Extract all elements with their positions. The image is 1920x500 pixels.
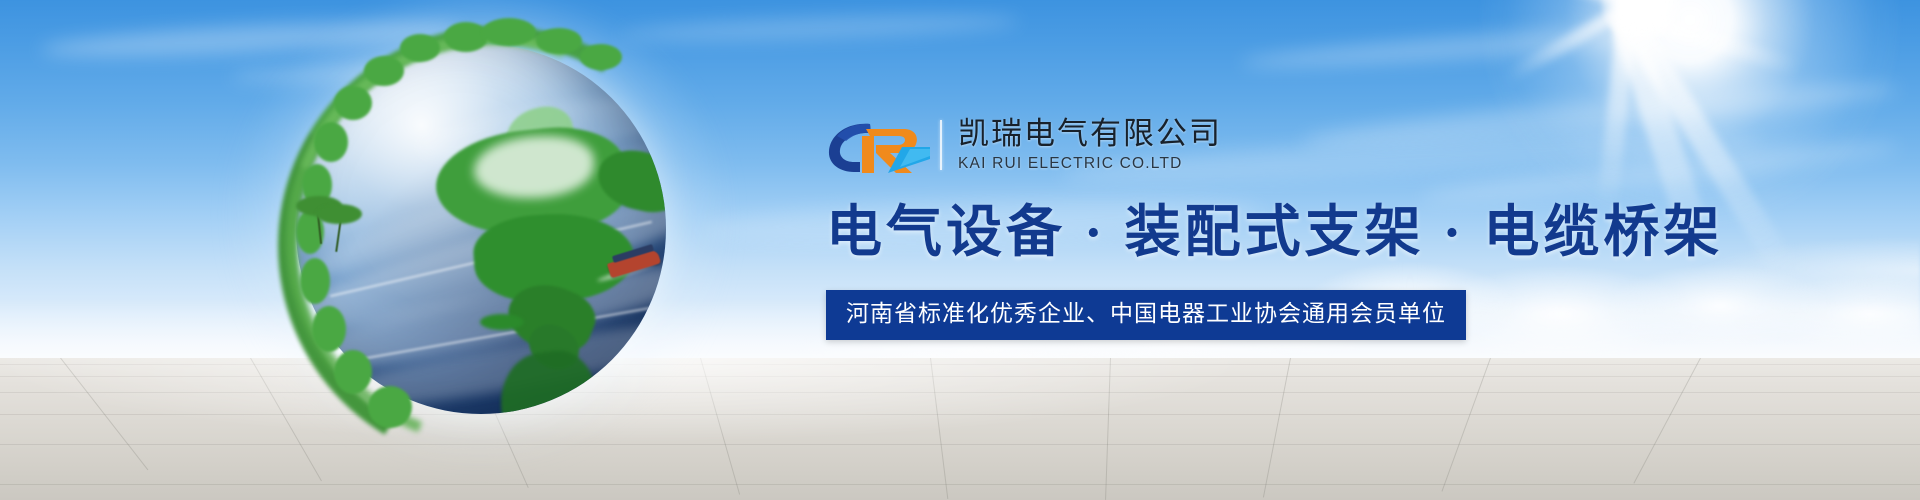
hero-banner: 凯瑞电气有限公司 KAI RUI ELECTRIC CO.LTD 电气设备 · … <box>0 0 1920 500</box>
tree-icon <box>482 18 536 46</box>
tree-icon <box>314 122 348 162</box>
tree-icon <box>400 34 440 62</box>
headline-text: 电气设备 · 装配式支架 · 电缆桥架 <box>826 200 1726 266</box>
palm-fronds <box>316 204 362 224</box>
tree-icon <box>536 28 582 54</box>
floor-line <box>1633 358 1701 484</box>
credential-ribbon-text: 河南省标准化优秀企业、中国电器工业协会通用会员单位 <box>846 299 1446 329</box>
floor-line <box>0 484 1920 485</box>
floor-line <box>930 358 948 499</box>
tree-icon <box>312 306 346 352</box>
floor-line <box>1105 358 1111 500</box>
banner-content: 凯瑞电气有限公司 KAI RUI ELECTRIC CO.LTD 电气设备 · … <box>826 112 1726 340</box>
tree-icon <box>334 86 372 120</box>
logo-divider <box>940 120 942 170</box>
floor-line <box>700 358 740 495</box>
floor-line <box>0 444 1920 445</box>
cr-monogram-logo-icon <box>826 115 934 175</box>
floor-line <box>1263 358 1291 497</box>
tree-icon <box>364 56 404 86</box>
tree-icon <box>334 350 372 394</box>
company-name-block: 凯瑞电气有限公司 KAI RUI ELECTRIC CO.LTD <box>958 116 1222 174</box>
floor-line <box>1441 358 1491 492</box>
company-name-en: KAI RUI ELECTRIC CO.LTD <box>958 154 1222 174</box>
company-name-cn: 凯瑞电气有限公司 <box>958 116 1222 152</box>
credential-ribbon: 河南省标准化优秀企业、中国电器工业协会通用会员单位 <box>826 290 1466 340</box>
tree-icon <box>368 386 412 428</box>
company-logo[interactable]: 凯瑞电气有限公司 KAI RUI ELECTRIC CO.LTD <box>826 112 1726 178</box>
earth-globe <box>268 14 688 444</box>
floor-line <box>60 358 148 470</box>
tree-icon <box>444 22 488 52</box>
tree-icon <box>300 258 330 304</box>
tree-icon <box>580 44 622 70</box>
